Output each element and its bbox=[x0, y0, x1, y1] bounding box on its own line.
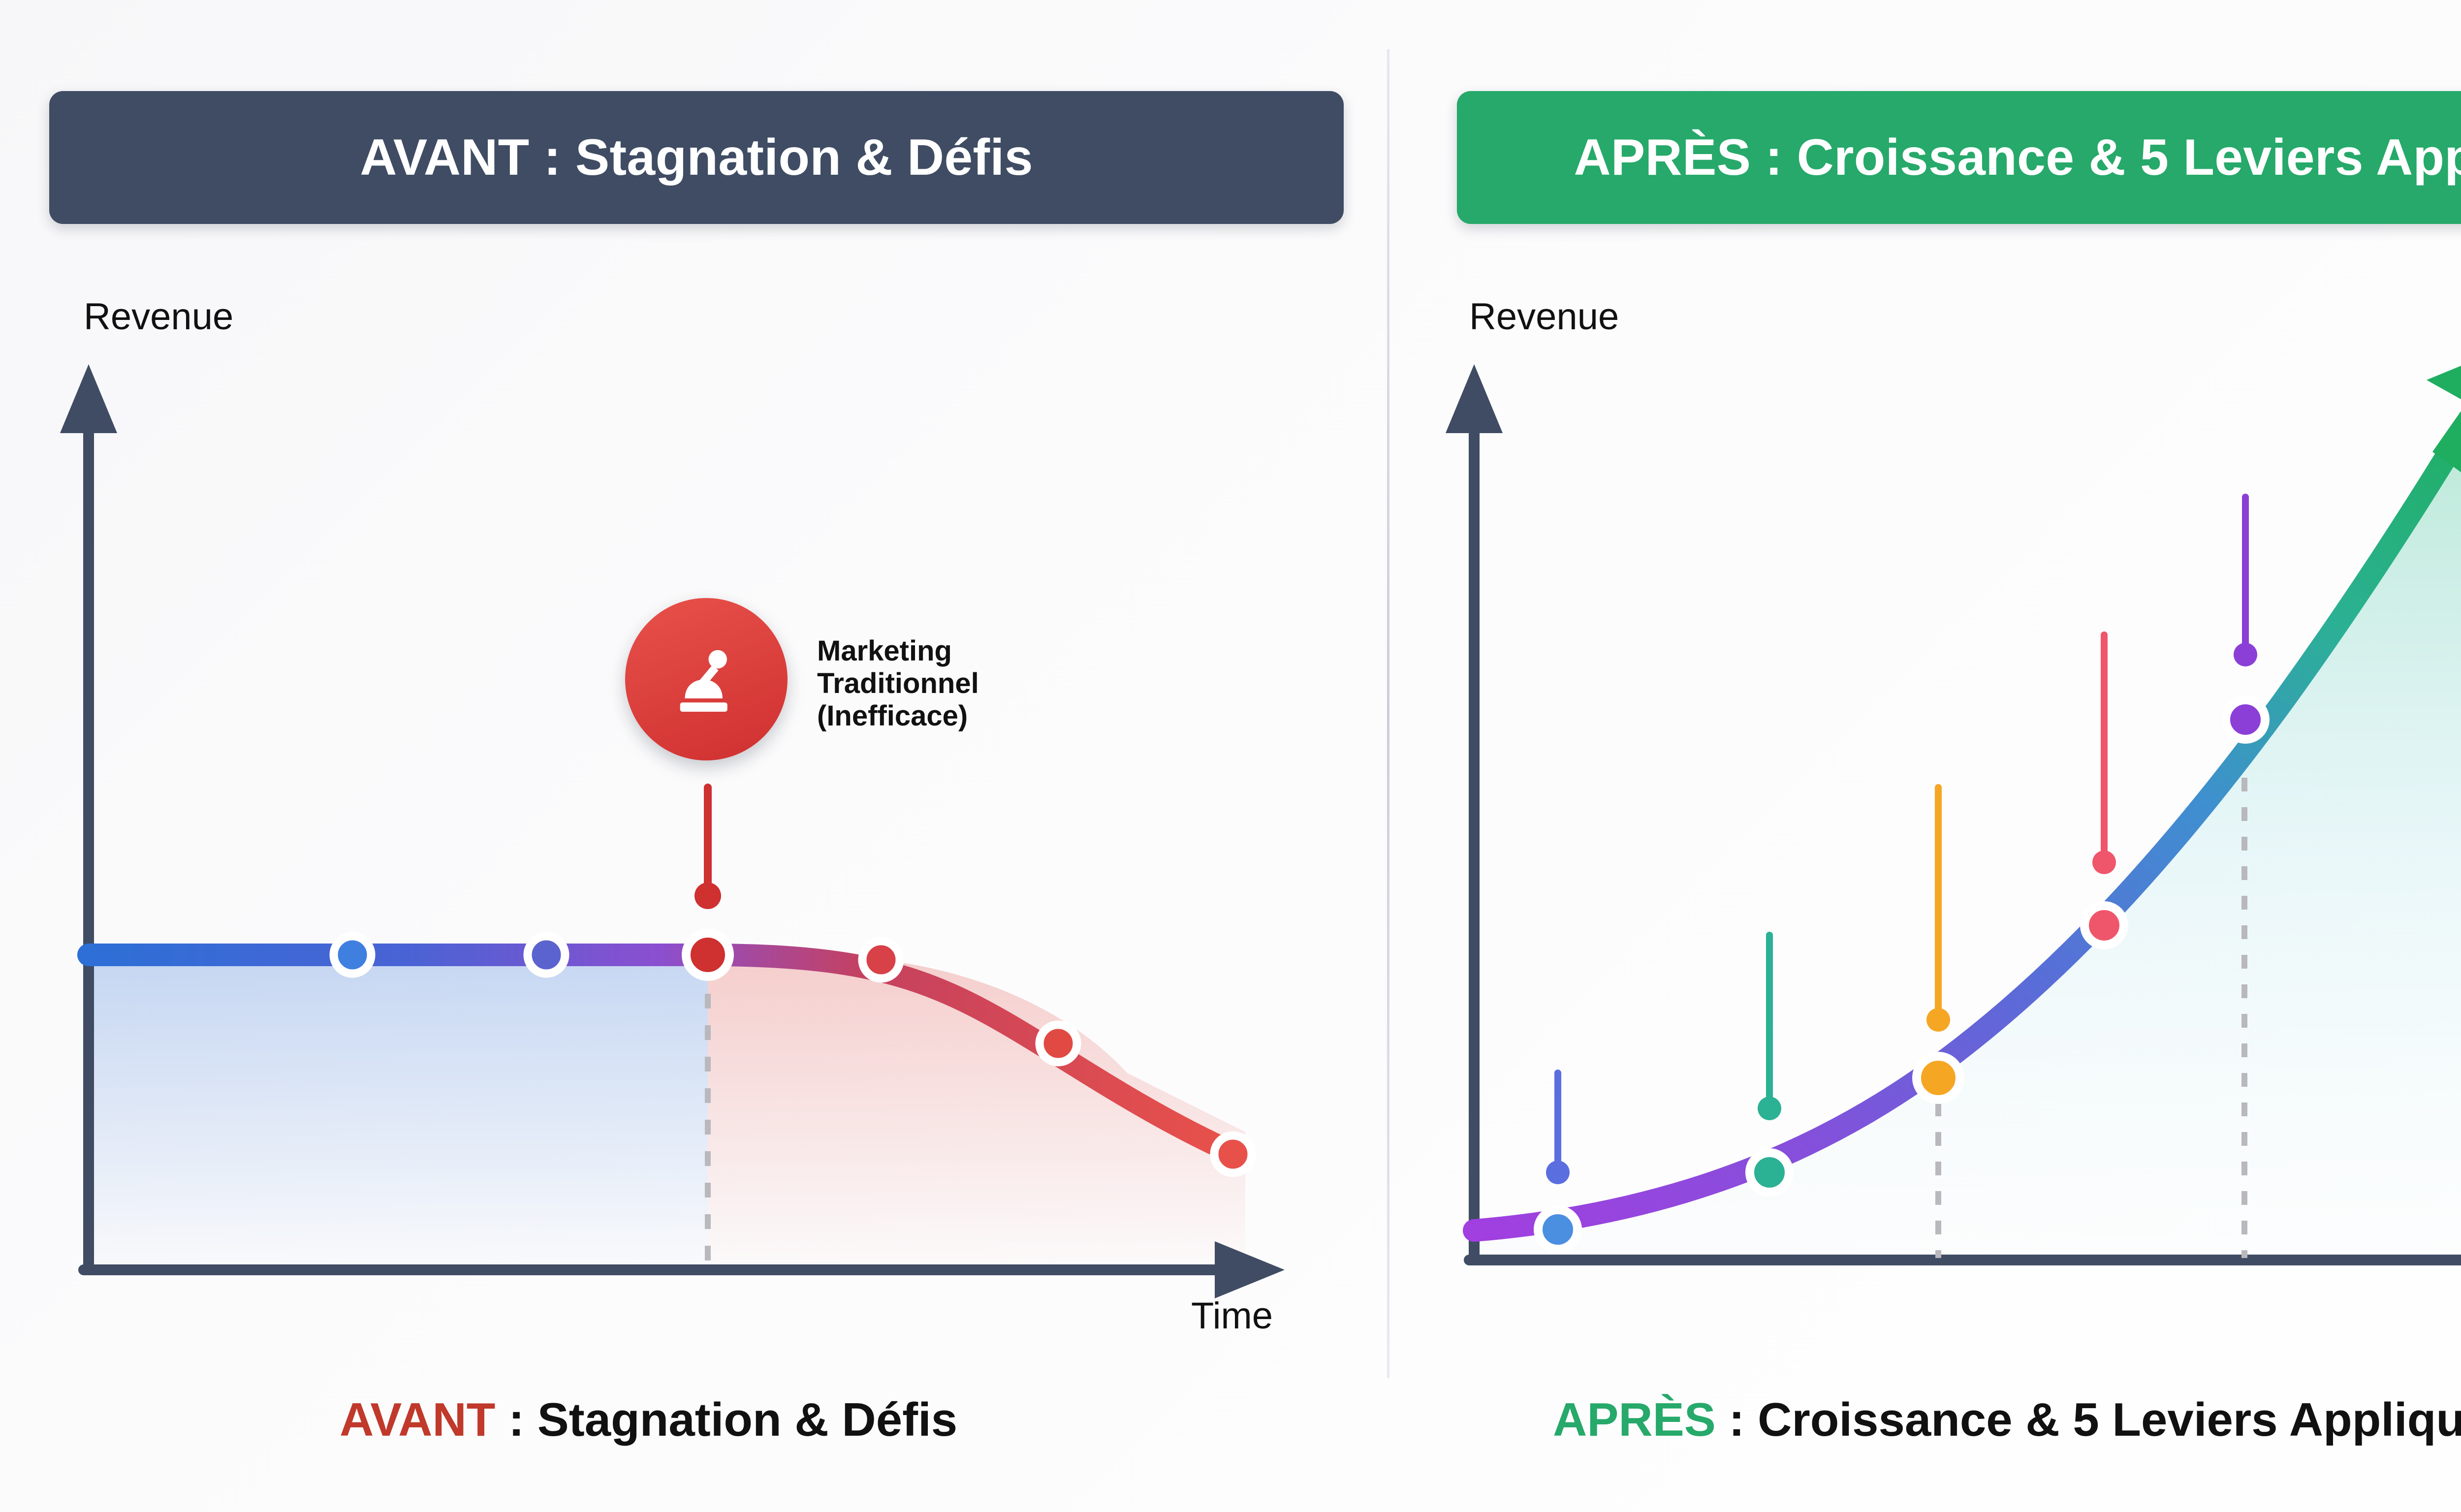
lever-connector-3 bbox=[1926, 787, 1950, 1032]
annotation-connector-before bbox=[694, 787, 721, 909]
stamp-icon-badge[interactable] bbox=[625, 598, 788, 760]
stamp-icon bbox=[662, 635, 751, 724]
caption-after-accent: APRÈS bbox=[1553, 1393, 1716, 1446]
y-axis-after bbox=[1446, 364, 1503, 1260]
caption-before-accent: AVANT bbox=[340, 1393, 495, 1446]
panel-after: APRÈS : Croissance & 5 Leviers Appliqués… bbox=[1388, 0, 2461, 1512]
lever-connector-4 bbox=[2092, 635, 2116, 874]
lever-connector-5 bbox=[2234, 497, 2257, 666]
area-fill-growth bbox=[1474, 374, 2461, 1260]
caption-after: APRÈS : Croissance & 5 Leviers Appliqués bbox=[1553, 1393, 2461, 1447]
chart-after bbox=[1388, 0, 2461, 1512]
area-fill-stagnation bbox=[89, 955, 708, 1270]
caption-before-rest: : Stagnation & Défis bbox=[495, 1393, 957, 1446]
lever-connector-1 bbox=[1546, 1073, 1570, 1184]
panel-before: AVANT : Stagnation & Défis Revenue Time bbox=[0, 0, 1388, 1512]
lever-connector-2 bbox=[1758, 935, 1781, 1120]
caption-after-rest: : Croissance & 5 Leviers Appliqués bbox=[1716, 1393, 2461, 1446]
caption-before: AVANT : Stagnation & Défis bbox=[340, 1393, 957, 1447]
annotation-label-before: Marketing Traditionnel (Inefficace) bbox=[817, 635, 1112, 732]
